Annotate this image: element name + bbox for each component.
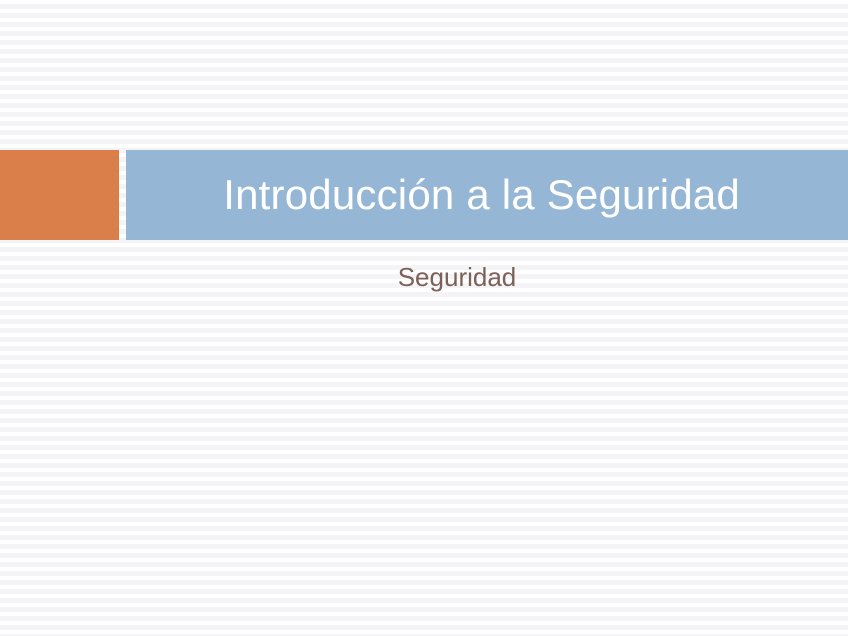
slide-subtitle: Seguridad [0,262,848,293]
presentation-slide: Introducción a la Seguridad Seguridad [0,0,848,636]
slide-title: Introducción a la Seguridad [126,150,848,240]
title-banner: Introducción a la Seguridad [0,150,848,240]
title-bar: Introducción a la Seguridad [126,150,848,240]
accent-color-block [0,150,119,240]
striped-background [0,0,848,636]
